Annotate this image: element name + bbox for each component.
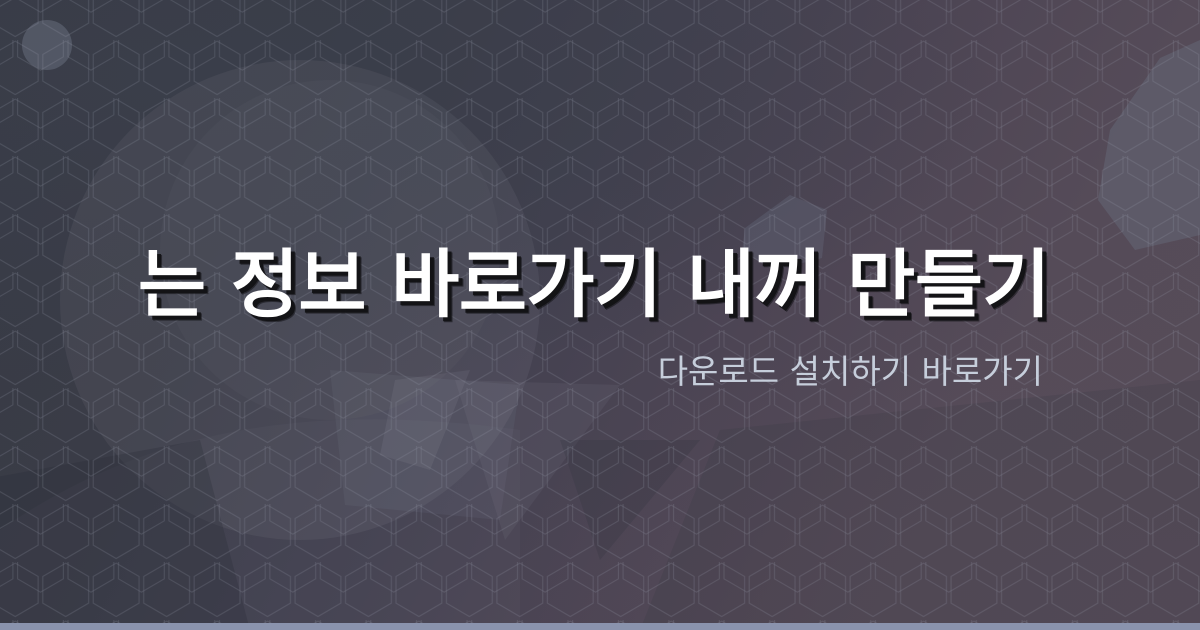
page-title: 는 정보 바로가기 내꺼 만들기 [0, 248, 1200, 322]
og-banner: 는 정보 바로가기 내꺼 만들기 다운로드 설치하기 바로가기 [0, 0, 1200, 630]
banner-content: 는 정보 바로가기 내꺼 만들기 다운로드 설치하기 바로가기 [0, 0, 1200, 630]
bottom-accent-bar [0, 623, 1200, 630]
page-subtitle: 다운로드 설치하기 바로가기 [0, 352, 1200, 392]
